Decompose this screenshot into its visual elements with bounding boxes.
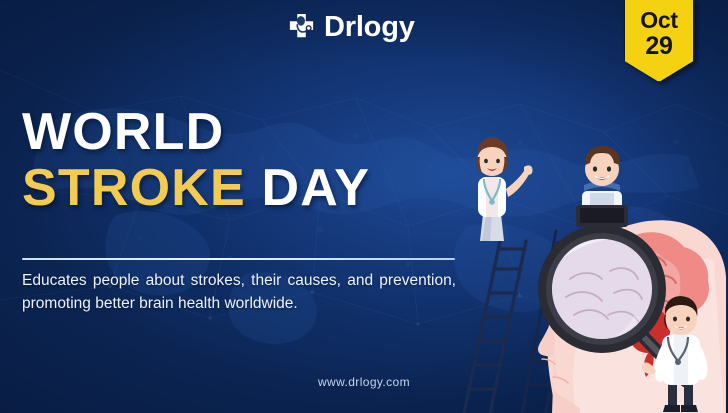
description-text: Educates people about strokes, their cau… xyxy=(22,270,456,316)
poster-canvas: Drlogy Oct 29 WORLD STROKE DAY Educates … xyxy=(0,0,728,413)
headline-line-2: STROKE DAY xyxy=(22,160,370,216)
brand-name: Drlogy xyxy=(324,13,415,42)
headline-line-1: WORLD xyxy=(22,104,370,160)
date-badge: Oct 29 xyxy=(624,0,694,82)
headline-word-world: WORLD xyxy=(22,103,224,161)
medical-cross-stethoscope-icon xyxy=(286,12,317,43)
headline-word-day: DAY xyxy=(262,159,371,217)
brand-logo[interactable]: Drlogy xyxy=(286,12,415,43)
doctor-with-laptop xyxy=(576,146,628,227)
date-badge-content: Oct 29 xyxy=(624,0,694,82)
date-badge-month: Oct xyxy=(640,8,677,33)
page-title: WORLD STROKE DAY xyxy=(22,104,370,216)
headline-word-stroke: STROKE xyxy=(22,159,246,217)
title-divider xyxy=(22,258,455,260)
stroke-illustration xyxy=(456,113,728,413)
date-badge-day: 29 xyxy=(645,33,672,60)
footer-website-url[interactable]: www.drlogy.com xyxy=(0,375,728,389)
doctor-on-ladder xyxy=(476,138,532,241)
